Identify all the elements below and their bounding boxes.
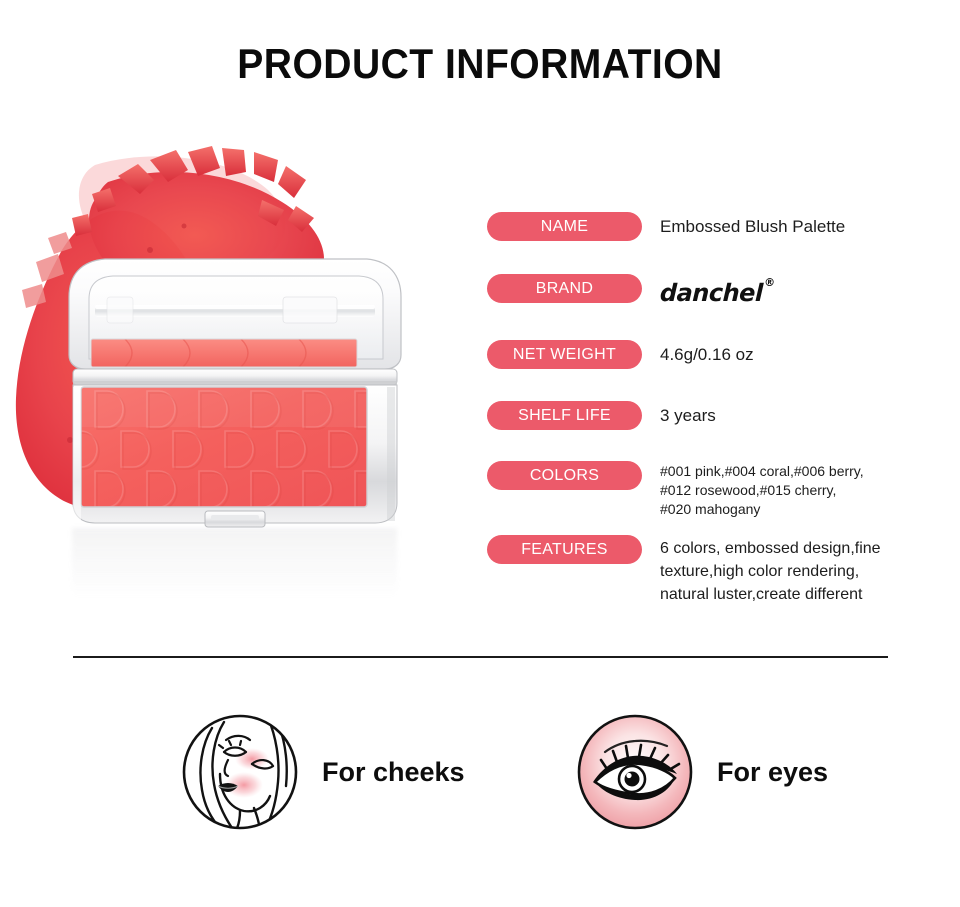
spec-label-colors: COLORS	[487, 461, 642, 490]
eye-makeup-icon	[575, 712, 695, 832]
usage-label-cheeks: For cheeks	[322, 757, 465, 788]
usage-item-cheeks: For cheeks	[180, 712, 465, 832]
spec-value-name: Embossed Blush Palette	[660, 212, 845, 241]
product-information-page: PRODUCT INFORMATION	[0, 0, 960, 907]
spec-row-colors: COLORS #001 pink,#004 coral,#006 berry, …	[487, 461, 917, 519]
blush-compact	[55, 235, 415, 535]
section-divider	[73, 656, 888, 658]
brand-wordmark: danchel	[659, 279, 763, 307]
usage-row: For cheeks	[0, 712, 960, 842]
product-image	[0, 130, 450, 600]
spec-row-features: FEATURES 6 colors, embossed design,fine …	[487, 535, 917, 606]
spec-value-net-weight: 4.6g/0.16 oz	[660, 340, 754, 369]
spec-label-name: NAME	[487, 212, 642, 241]
registered-trademark-icon: ®	[764, 276, 775, 289]
spec-row-net-weight: NET WEIGHT 4.6g/0.16 oz	[487, 340, 917, 369]
compact-reflection	[72, 528, 397, 598]
page-title: PRODUCT INFORMATION	[34, 40, 927, 88]
spec-label-brand: BRAND	[487, 274, 642, 303]
face-blush-icon	[180, 712, 300, 832]
spec-value-features: 6 colors, embossed design,fine texture,h…	[660, 537, 881, 606]
usage-item-eyes: For eyes	[575, 712, 828, 832]
spec-row-shelf-life: SHELF LIFE 3 years	[487, 401, 917, 430]
brand-logo: danchel®	[659, 274, 773, 308]
spec-value-colors: #001 pink,#004 coral,#006 berry, #012 ro…	[660, 462, 864, 519]
spec-label-net-weight: NET WEIGHT	[487, 340, 642, 369]
spec-label-features: FEATURES	[487, 535, 642, 564]
usage-label-eyes: For eyes	[717, 757, 828, 788]
spec-row-brand: BRAND danchel®	[487, 274, 917, 308]
spec-label-shelf-life: SHELF LIFE	[487, 401, 642, 430]
spec-value-shelf-life: 3 years	[660, 401, 716, 430]
spec-row-name: NAME Embossed Blush Palette	[487, 212, 917, 241]
spec-list: NAME Embossed Blush Palette BRAND danche…	[487, 212, 917, 618]
